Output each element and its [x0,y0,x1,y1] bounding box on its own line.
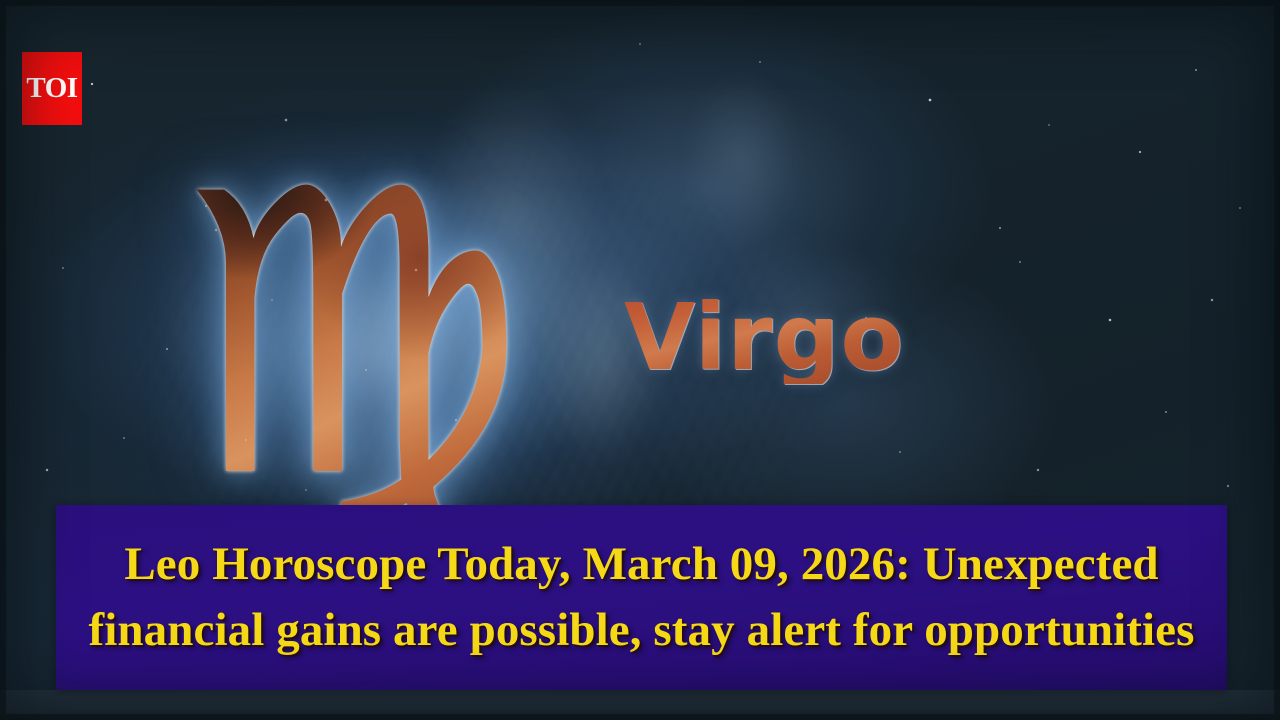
virgo-zodiac-glyph: ♍ [176,140,536,540]
headline-banner: Leo Horoscope Today, March 09, 2026: Une… [56,505,1227,690]
virgo-glyph-text: ♍ [176,140,536,532]
bottom-strip [0,690,1280,720]
toi-logo[interactable]: TOI [22,52,82,125]
zodiac-sign-name: Virgo [624,292,905,384]
headline-title: Leo Horoscope Today, March 09, 2026: Une… [56,532,1227,663]
toi-logo-text: TOI [26,74,77,103]
horoscope-video-card: ♍ Virgo TOI Leo Horoscope Today, March 0… [0,0,1280,720]
